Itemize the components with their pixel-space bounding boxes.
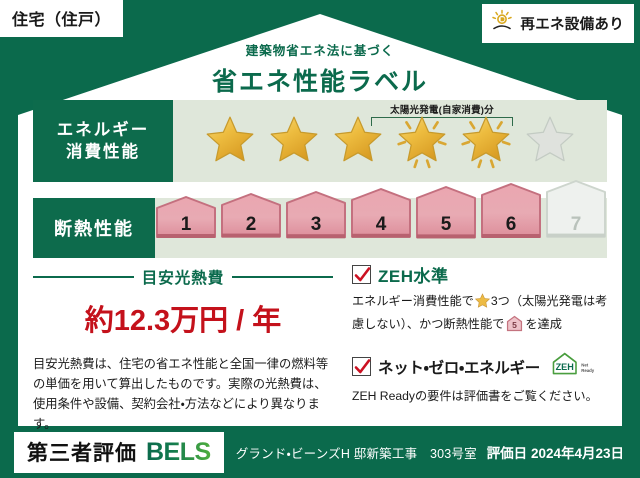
evaluation-date: 評価日 2024年4月23日 (487, 442, 624, 462)
svg-text:5: 5 (512, 320, 517, 330)
star-filled (199, 111, 261, 171)
insulation-label-text: 断熱性能 (54, 215, 134, 241)
star-filled (263, 111, 325, 171)
energy-rating-area: 太陽光発電(自家消費)分 (173, 100, 607, 182)
insulation-performance-row: 断熱性能 1234567 (33, 198, 607, 258)
energy-label-line1: エネルギー (57, 119, 150, 141)
title-block: 建築物省エネ法に基づく 省エネ性能ラベル (0, 40, 640, 98)
svg-text:Ready: Ready (581, 368, 595, 373)
sun-icon (490, 9, 514, 38)
energy-performance-row: エネルギー 消費性能 太陽光発電(自家消費)分 (33, 100, 607, 182)
net-zero-title-row: ネット・ゼロ・エネルギー ZEH Net Ready (352, 351, 614, 382)
insulation-grade-number: 6 (506, 214, 517, 242)
footer-bar: 第三者評価 BELS グランド・ビーンズH 邸新築工事 303号室 評価日 20… (0, 426, 640, 478)
zeh-standard-description: エネルギー消費性能で3つ（太陽光発電は考慮しない）、かつ断熱性能で5を達成 (352, 292, 614, 338)
insulation-grade-active: 1 (155, 214, 217, 242)
zeh-ready-logo: ZEH Net Ready (550, 351, 602, 382)
zeh-claims-block: ZEH水準 エネルギー消費性能で3つ（太陽光発電は考慮しない）、かつ断熱性能で5… (352, 262, 614, 407)
inline-star-icon (475, 297, 490, 311)
insulation-grade-number: 2 (246, 214, 257, 242)
net-zero-checkbox[interactable] (352, 357, 371, 376)
net-zero-title: ネット・ゼロ・エネルギー (378, 356, 540, 378)
insulation-grade-active: 3 (285, 214, 347, 242)
insulation-performance-label: 断熱性能 (33, 198, 155, 258)
energy-performance-label: エネルギー 消費性能 (33, 100, 173, 182)
page-title: 省エネ性能ラベル (0, 62, 640, 98)
star-filled (455, 111, 517, 171)
zeh-standard-item: ZEH水準 エネルギー消費性能で3つ（太陽光発電は考慮しない）、かつ断熱性能で5… (352, 262, 614, 338)
heading-rule-right (232, 276, 333, 278)
insulation-grade-number: 1 (181, 214, 192, 242)
bels-certification-badge: 第三者評価 BELS (14, 432, 224, 473)
energy-label-line2: 消費性能 (66, 141, 140, 163)
net-zero-energy-item: ネット・ゼロ・エネルギー ZEH Net Ready ZEH Readyの要件は… (352, 351, 614, 407)
utility-cost-heading-text: 目安光熱費 (142, 266, 225, 288)
property-name: グランド・ビーンズH 邸新築工事 303号室 (236, 443, 477, 462)
insulation-grade-scale: 1234567 (155, 214, 607, 242)
building-type-label: 住宅（住戸） (12, 12, 111, 29)
svg-text:ZEH: ZEH (556, 362, 574, 372)
net-zero-description: ZEH Readyの要件は評価書をご覧ください。 (352, 387, 614, 407)
insulation-grade-active: 6 (480, 214, 542, 242)
star-filled (327, 111, 389, 171)
utility-cost-description: 目安光熱費は、住宅の省エネ性能と全国一律の燃料等の単価を用いて算出したものです。… (33, 355, 333, 435)
renewable-energy-label: 再エネ設備あり (520, 13, 624, 34)
bels-en-label: BELS (146, 438, 211, 467)
utility-cost-value: 約12.3万円 / 年 (33, 297, 333, 339)
utility-cost-block: 目安光熱費 約12.3万円 / 年 目安光熱費は、住宅の省エネ性能と全国一律の燃… (33, 266, 333, 435)
bels-jp-label: 第三者評価 (27, 437, 137, 467)
insulation-grade-active: 5 (415, 214, 477, 242)
zeh-desc-part1: エネルギー消費性能で (352, 294, 474, 308)
building-type-badge: 住宅（住戸） (0, 0, 123, 37)
insulation-grade-number: 3 (311, 214, 322, 242)
insulation-grade-number: 4 (376, 214, 387, 242)
energy-star-rating (199, 111, 581, 171)
zeh-desc-part3: を達成 (525, 317, 562, 331)
star-empty (519, 111, 581, 171)
star-filled (391, 111, 453, 171)
insulation-grade-active: 4 (350, 214, 412, 242)
zeh-standard-checkbox[interactable] (352, 265, 371, 284)
insulation-grade-inactive: 7 (545, 214, 607, 242)
heading-rule-left (33, 276, 134, 278)
svg-text:Net: Net (581, 363, 589, 368)
insulation-grade-number: 7 (571, 214, 582, 242)
zeh-standard-title: ZEH水準 (378, 262, 449, 287)
insulation-grade-number: 5 (441, 214, 452, 242)
inline-grade-badge: 5 (506, 321, 523, 335)
renewable-energy-badge: 再エネ設備あり (482, 4, 634, 43)
utility-cost-heading: 目安光熱費 (33, 266, 333, 288)
zeh-standard-title-row: ZEH水準 (352, 262, 614, 287)
insulation-rating-area: 1234567 (155, 198, 607, 258)
insulation-grade-active: 2 (220, 214, 282, 242)
